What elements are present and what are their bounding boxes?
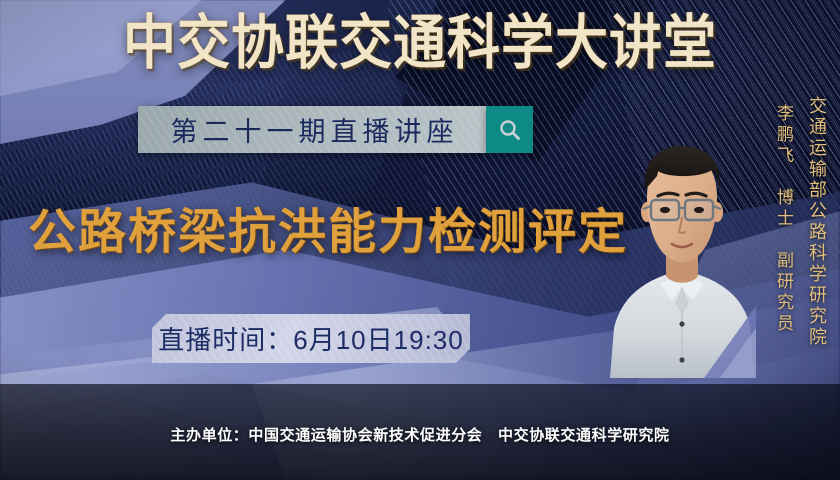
subtitle-text: 第二十一期直播讲座 [166, 110, 459, 149]
organizer-footer: 主办单位：中国交通运输协会新技术促进分会 中交协联交通科学研究院 [0, 424, 840, 445]
main-title: 中交协联交通科学大讲堂 [0, 10, 840, 77]
broadcast-time-text: 直播时间：6月10日19:30 [158, 320, 463, 357]
broadcast-time-banner: 直播时间：6月10日19:30 [152, 314, 470, 363]
search-icon [497, 117, 523, 143]
live-seminar-poster: 中交协联交通科学大讲堂 第二十一期直播讲座 公路桥梁抗洪能力检测评定 直播时间：… [0, 0, 840, 480]
speaker-portrait-illustration [608, 128, 756, 378]
speaker-photo [608, 128, 756, 378]
speaker-organization: 交通运输部公路科学研究院 [804, 96, 830, 348]
speaker-name-title: 李鹏飞 博士 副研究员 [771, 104, 796, 335]
headline-topic: 公路桥梁抗洪能力检测评定 [28, 204, 628, 262]
search-icon-box[interactable] [486, 106, 533, 153]
subtitle-banner: 第二十一期直播讲座 [138, 106, 486, 153]
